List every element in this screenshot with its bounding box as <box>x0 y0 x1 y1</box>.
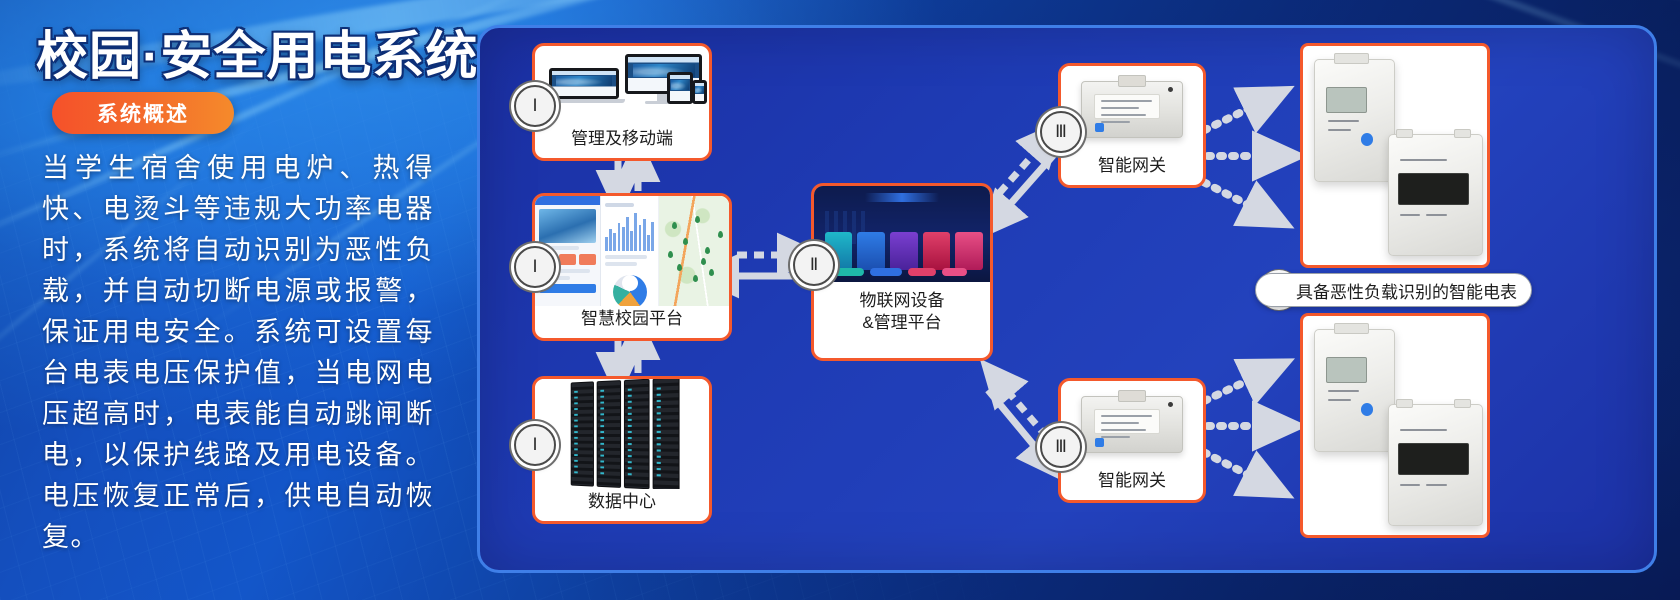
data-center-servers-mock <box>535 379 709 489</box>
gateway-device-mock <box>1061 381 1203 468</box>
meter-group-bottom[interactable] <box>1300 313 1490 538</box>
iot-platform-dashboard-mock <box>814 186 990 282</box>
gateway-device-mock <box>1061 66 1203 153</box>
node-label: 智能网关 <box>1094 468 1170 500</box>
node-data-center[interactable]: 数据中心 <box>532 376 712 524</box>
arrow-iot-gateway-top <box>988 140 1058 218</box>
page-title: 校园·安全用电系统 <box>36 14 478 89</box>
numeral-badge-gateway-bottom: Ⅲ <box>1040 426 1082 468</box>
smart-meter-images-bottom <box>1303 316 1487 535</box>
meter-group-label: 具备恶性负载识别的智能电表 <box>1255 273 1532 307</box>
node-label: 管理及移动端 <box>567 126 677 158</box>
node-management-mobile[interactable]: 管理及移动端 <box>532 43 712 161</box>
node-label: 智能网关 <box>1094 153 1170 185</box>
node-label: 物联网设备 &管理平台 <box>856 282 949 342</box>
architecture-diagram-panel: 管理及移动端 Ⅰ <box>477 25 1657 573</box>
left-content-column: 校园·安全用电系统 系统概述 当学生宿舍使用电炉、热得快、电烫斗等违规大功率电器… <box>0 0 470 600</box>
node-label: 数据中心 <box>584 489 660 521</box>
meter-group-top[interactable] <box>1300 43 1490 268</box>
arrow-management-campus <box>618 161 638 191</box>
numeral-badge-gateway-top: Ⅲ <box>1040 111 1082 153</box>
node-campus-platform[interactable]: 智慧校园平台 <box>532 193 732 341</box>
campus-platform-dashboard-mock <box>535 196 729 306</box>
numeral-badge-management: Ⅰ <box>514 85 556 127</box>
meter-group-label-text: 具备恶性负载识别的智能电表 <box>1296 278 1517 303</box>
node-iot-platform[interactable]: 物联网设备 &管理平台 <box>811 183 993 361</box>
node-label: 智慧校园平台 <box>577 306 687 338</box>
numeral-badge-campus-platform: Ⅰ <box>514 246 556 288</box>
smart-meter-images-top <box>1303 46 1487 265</box>
management-devices-mock <box>535 46 709 126</box>
overview-paragraph: 当学生宿舍使用电炉、热得快、电烫斗等违规大功率电器时，系统将自动识别为恶性负载，… <box>42 148 434 558</box>
section-badge-system-overview: 系统概述 <box>52 92 234 134</box>
numeral-badge-iot-platform: Ⅱ <box>793 244 835 286</box>
arrow-campus-datacenter <box>618 339 638 373</box>
numeral-badge-data-center: Ⅰ <box>514 424 556 466</box>
